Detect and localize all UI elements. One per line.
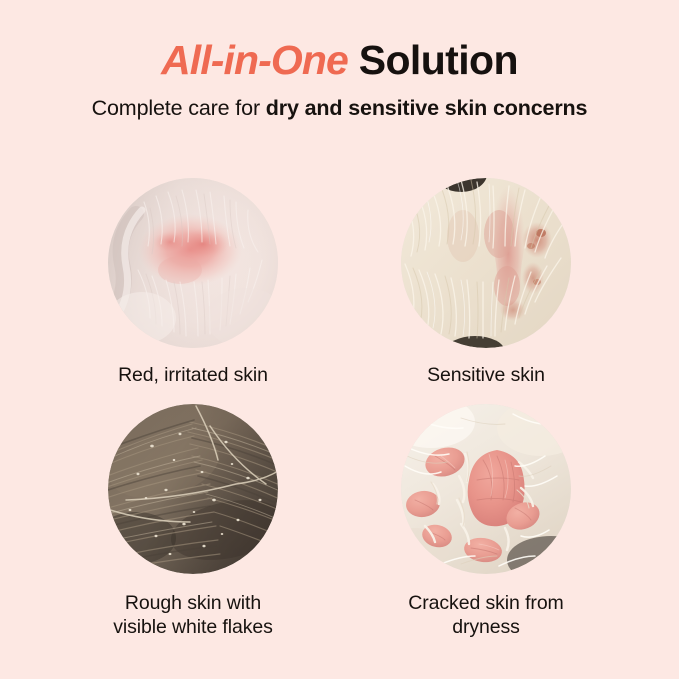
promotional-graphic: All-in-One Solution Complete care for dr… <box>0 0 679 679</box>
condition-cell: Sensitive skin <box>381 178 592 388</box>
condition-row: Red, irritated skin <box>0 178 679 388</box>
photo-red-irritated-skin <box>108 178 278 348</box>
condition-cell: Red, irritated skin <box>88 178 299 388</box>
photo-cracked-skin-dryness <box>401 404 571 574</box>
headline-plain-text: Solution <box>348 37 518 83</box>
condition-cell: Rough skin with visible white flakes <box>88 404 299 640</box>
condition-grid: Red, irritated skin <box>0 178 679 639</box>
page-subtitle: Complete care for dry and sensitive skin… <box>0 96 679 122</box>
header: All-in-One Solution Complete care for dr… <box>0 0 679 122</box>
caption-label: Sensitive skin <box>427 364 545 388</box>
subtitle-regular-text: Complete care for <box>92 96 266 120</box>
page-title: All-in-One Solution <box>0 38 679 82</box>
caption-label: Cracked skin from dryness <box>408 592 563 640</box>
photo-sensitive-skin <box>401 178 571 348</box>
condition-row: Rough skin with visible white flakes <box>0 404 679 640</box>
caption-label: Rough skin with visible white flakes <box>113 592 273 640</box>
condition-cell: Cracked skin from dryness <box>381 404 592 640</box>
photo-rough-skin-flakes <box>108 404 278 574</box>
subtitle-bold-text: dry and sensitive skin concerns <box>266 96 588 120</box>
caption-label: Red, irritated skin <box>118 364 268 388</box>
headline-accent-text: All-in-One <box>161 37 348 83</box>
